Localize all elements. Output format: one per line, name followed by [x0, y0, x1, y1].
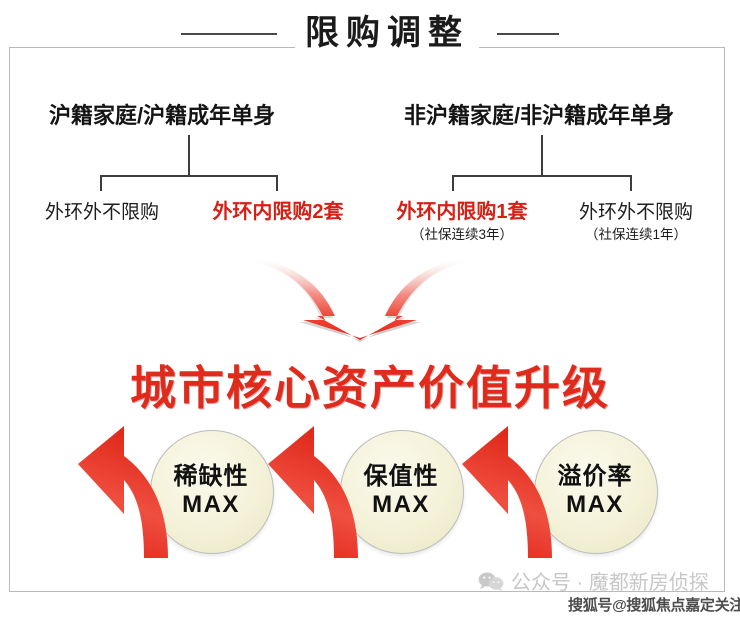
policy-leaf: 外环内限购1套 （社保连续3年） — [374, 200, 550, 245]
badge-label: 溢价率 — [558, 464, 633, 490]
wechat-icon — [478, 571, 504, 591]
policy-leaf: 外环外不限购 （社保连续1年） — [552, 201, 720, 245]
badge-text: 溢价率 MAX — [534, 430, 656, 552]
badge-max: MAX — [566, 492, 624, 518]
badge-max: MAX — [182, 492, 240, 518]
policy-leaf-note: （社保连续1年） — [552, 225, 720, 245]
tree-drop-right — [276, 175, 278, 191]
badge-max: MAX — [372, 492, 430, 518]
category-header-local: 沪籍家庭/沪籍成年单身 — [49, 98, 275, 130]
badge-text: 稀缺性 MAX — [150, 430, 272, 552]
wechat-watermark: 公众号 · 魔都新房侦探 — [478, 566, 709, 595]
badge-text: 保值性 MAX — [340, 430, 462, 552]
watermark-account: 公众号 · 魔都新房侦探 — [511, 566, 709, 595]
policy-leaf-main: 外环外不限购 — [22, 201, 182, 225]
title-rule-left — [181, 33, 277, 35]
page-title-block: 限购调整 — [0, 14, 740, 54]
policy-leaf: 外环外不限购 — [22, 201, 182, 225]
tree-drop-left — [100, 175, 102, 191]
tree-drop-right — [630, 175, 632, 191]
infographic-poster: 限购调整 沪籍家庭/沪籍成年单身 非沪籍家庭/非沪籍成年单身 外环外不限购 外环… — [0, 0, 740, 617]
badge-label: 稀缺性 — [174, 464, 249, 490]
tree-stem — [188, 135, 190, 176]
tree-bar — [100, 175, 277, 177]
title-rule-right — [497, 33, 559, 35]
badge-label: 保值性 — [364, 464, 439, 490]
policy-leaf-main: 外环内限购2套 — [190, 200, 366, 225]
policy-leaf: 外环内限购2套 — [190, 200, 366, 225]
tree-bar — [452, 175, 631, 177]
policy-leaf-note: （社保连续3年） — [374, 225, 550, 245]
funnel-down-arrow-icon — [245, 256, 475, 342]
value-badges: 稀缺性 MAX 保值性 MAX — [0, 424, 740, 559]
headline: 城市核心资产价值升级 — [0, 352, 740, 418]
tree-stem — [541, 135, 543, 176]
page-title: 限购调整 — [295, 14, 479, 54]
value-badge: 溢价率 MAX — [452, 424, 682, 559]
policy-leaf-main: 外环外不限购 — [552, 201, 720, 225]
policy-leaf-main: 外环内限购1套 — [374, 200, 550, 225]
tree-drop-left — [452, 175, 454, 191]
category-header-nonlocal: 非沪籍家庭/非沪籍成年单身 — [404, 98, 674, 130]
watermark-sub: 搜狐号@搜狐焦点嘉定关注 — [568, 594, 740, 615]
